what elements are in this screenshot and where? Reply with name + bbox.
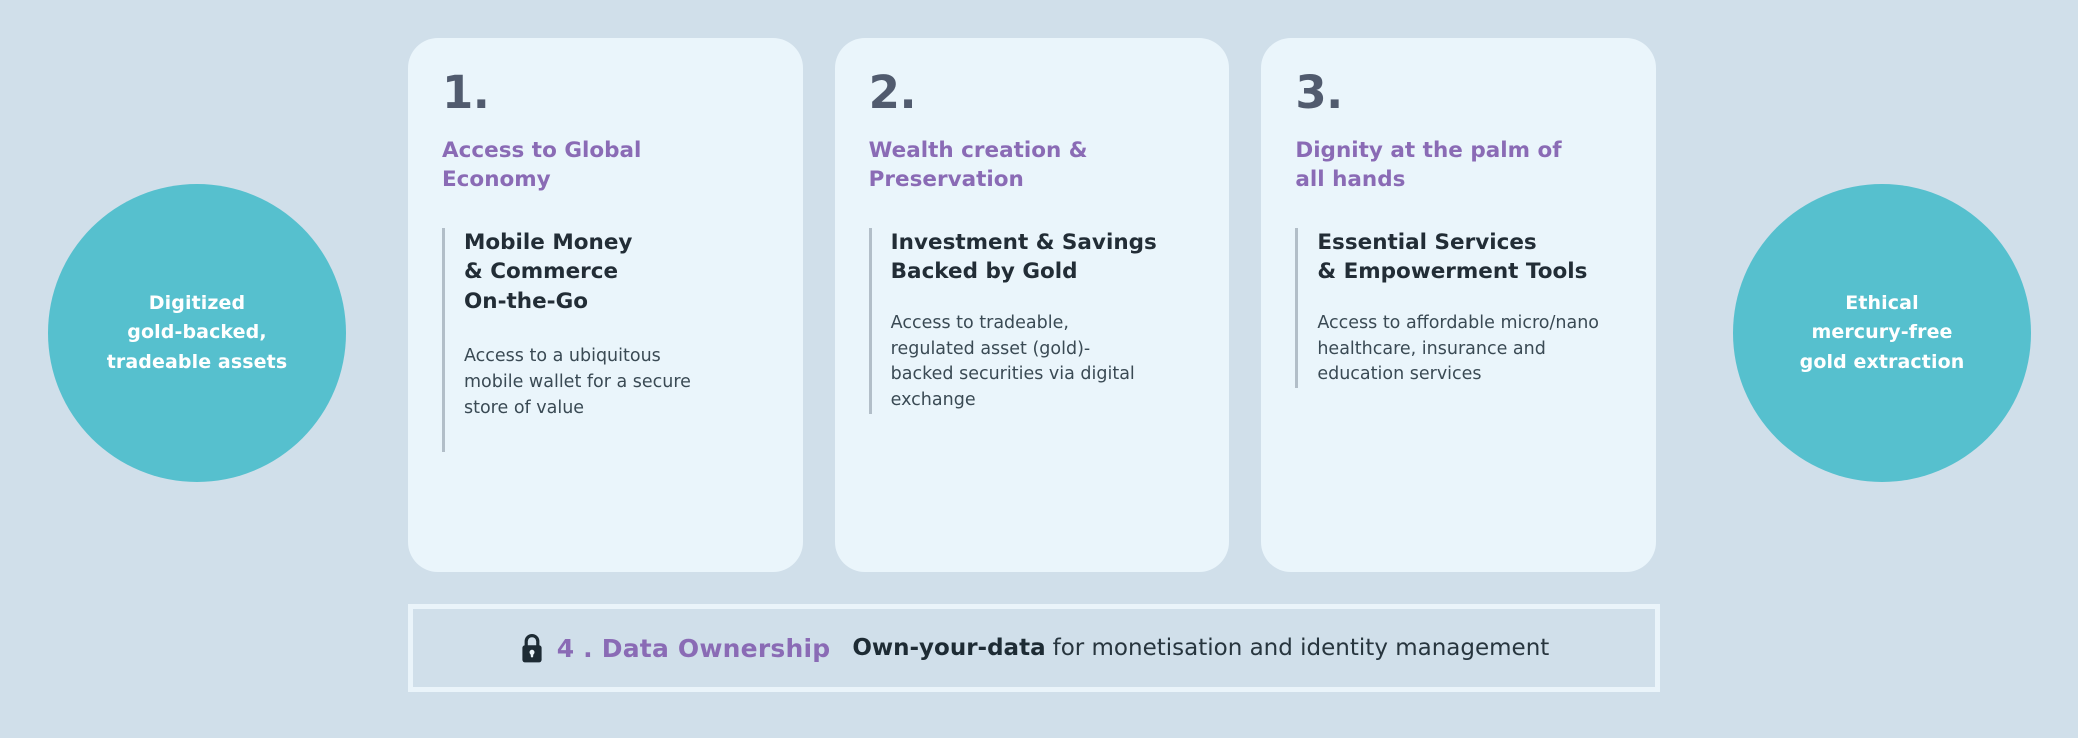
card-1-body-description: Access to a ubiquitous mobile wallet for… [464, 344, 769, 422]
card-2-body: Investment & Savings Backed by Gold Acce… [869, 228, 1196, 414]
pillar-card-1[interactable]: 1. Access to Global Economy Mobile Money… [408, 38, 803, 572]
card-2-subtitle: Wealth creation & Preservation [869, 137, 1196, 194]
right-circle-label: Ethical mercury-free gold extraction [1800, 289, 1965, 377]
data-ownership-banner[interactable]: 4 . Data Ownership Own-your-data for mon… [408, 604, 1660, 692]
card-1-body-title: Mobile Money & Commerce On-the-Go [464, 228, 769, 316]
card-3-body-title: Essential Services & Empowerment Tools [1317, 228, 1622, 286]
card-1-body: Mobile Money & Commerce On-the-Go Access… [442, 228, 769, 451]
card-3-body-description: Access to affordable micro/nano healthca… [1317, 311, 1622, 389]
pillar-card-3[interactable]: 3. Dignity at the palm of all hands Esse… [1261, 38, 1656, 572]
lock-icon [519, 633, 545, 664]
card-3-subtitle: Dignity at the palm of all hands [1295, 137, 1622, 194]
left-circle-label: Digitized gold-backed, tradeable assets [107, 289, 288, 377]
left-highlight-circle: Digitized gold-backed, tradeable assets [48, 184, 346, 482]
pillar-card-2[interactable]: 2. Wealth creation & Preservation Invest… [835, 38, 1230, 572]
card-2-body-title: Investment & Savings Backed by Gold [891, 228, 1196, 286]
banner-strong-label: Own-your-data [852, 635, 1045, 661]
card-3-body: Essential Services & Empowerment Tools A… [1295, 228, 1622, 388]
banner-rest-label: for monetisation and identity management [1053, 635, 1550, 661]
banner-content: 4 . Data Ownership Own-your-data for mon… [519, 633, 1550, 664]
card-1-number: 1. [442, 70, 769, 115]
pillar-cards-row: 1. Access to Global Economy Mobile Money… [408, 38, 1656, 572]
card-3-number: 3. [1295, 70, 1622, 115]
card-2-body-description: Access to tradeable, regulated asset (go… [891, 311, 1196, 415]
right-highlight-circle: Ethical mercury-free gold extraction [1733, 184, 2031, 482]
banner-step-label: 4 . Data Ownership [557, 634, 831, 663]
card-2-number: 2. [869, 70, 1196, 115]
card-1-subtitle: Access to Global Economy [442, 137, 769, 194]
